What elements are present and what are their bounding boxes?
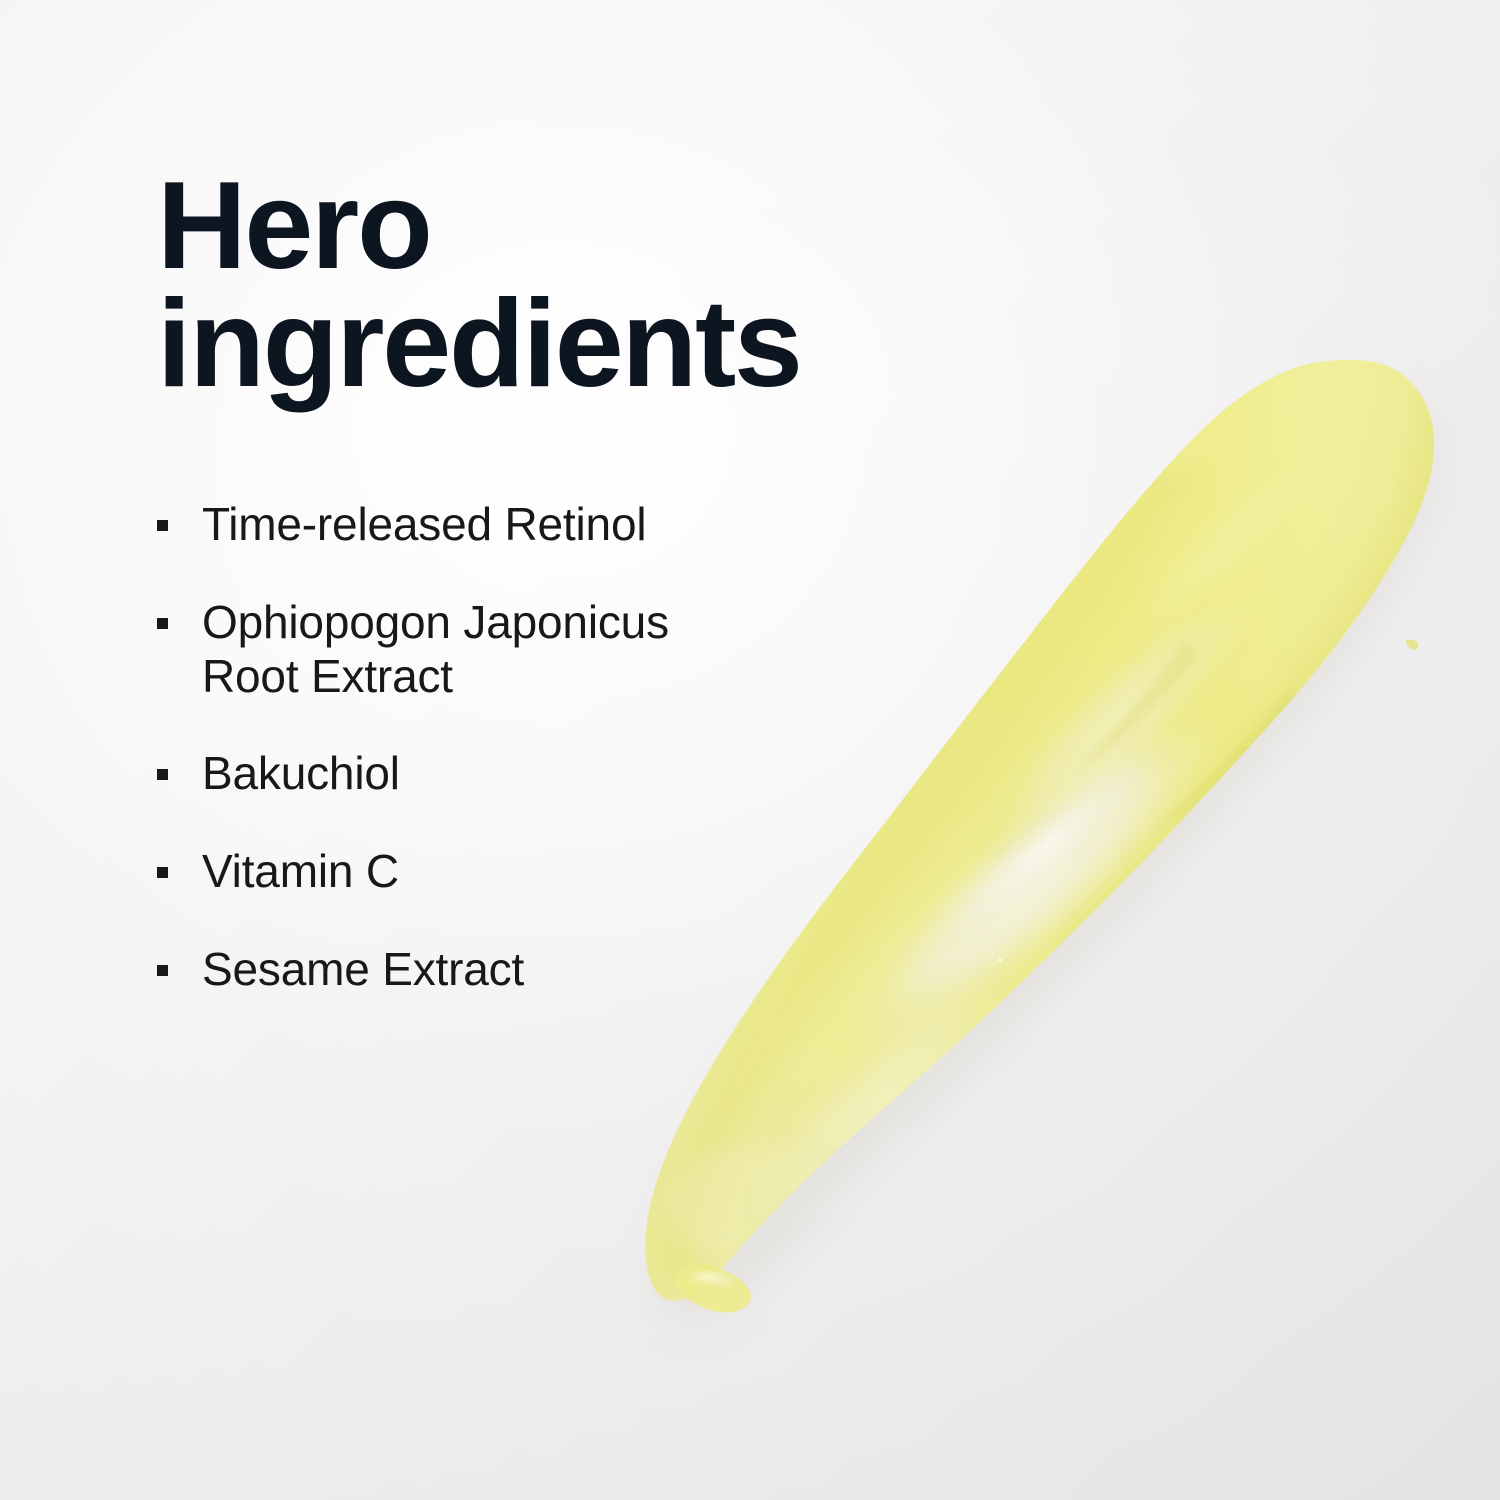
text-content: Hero ingredients Time-released Retinol O… <box>157 168 917 404</box>
list-item-label: Sesame Extract <box>202 943 897 997</box>
square-bullet-icon <box>157 520 168 531</box>
list-item-label: Ophiopogon Japonicus Root Extract <box>202 596 897 704</box>
list-item: Ophiopogon Japonicus Root Extract <box>157 596 897 704</box>
list-item-label: Time-released Retinol <box>202 498 897 552</box>
list-item-label: Vitamin C <box>202 845 897 899</box>
ingredient-list: Time-released Retinol Ophiopogon Japonic… <box>157 498 897 997</box>
square-bullet-icon <box>157 867 168 878</box>
list-item: Bakuchiol <box>157 747 897 801</box>
list-item: Vitamin C <box>157 845 897 899</box>
square-bullet-icon <box>157 618 168 629</box>
list-item: Sesame Extract <box>157 943 897 997</box>
list-item: Time-released Retinol <box>157 498 897 552</box>
square-bullet-icon <box>157 965 168 976</box>
product-ingredients-panel: Hero ingredients Time-released Retinol O… <box>0 0 1500 1500</box>
square-bullet-icon <box>157 769 168 780</box>
page-title: Hero ingredients <box>157 168 917 404</box>
list-item-label: Bakuchiol <box>202 747 897 801</box>
